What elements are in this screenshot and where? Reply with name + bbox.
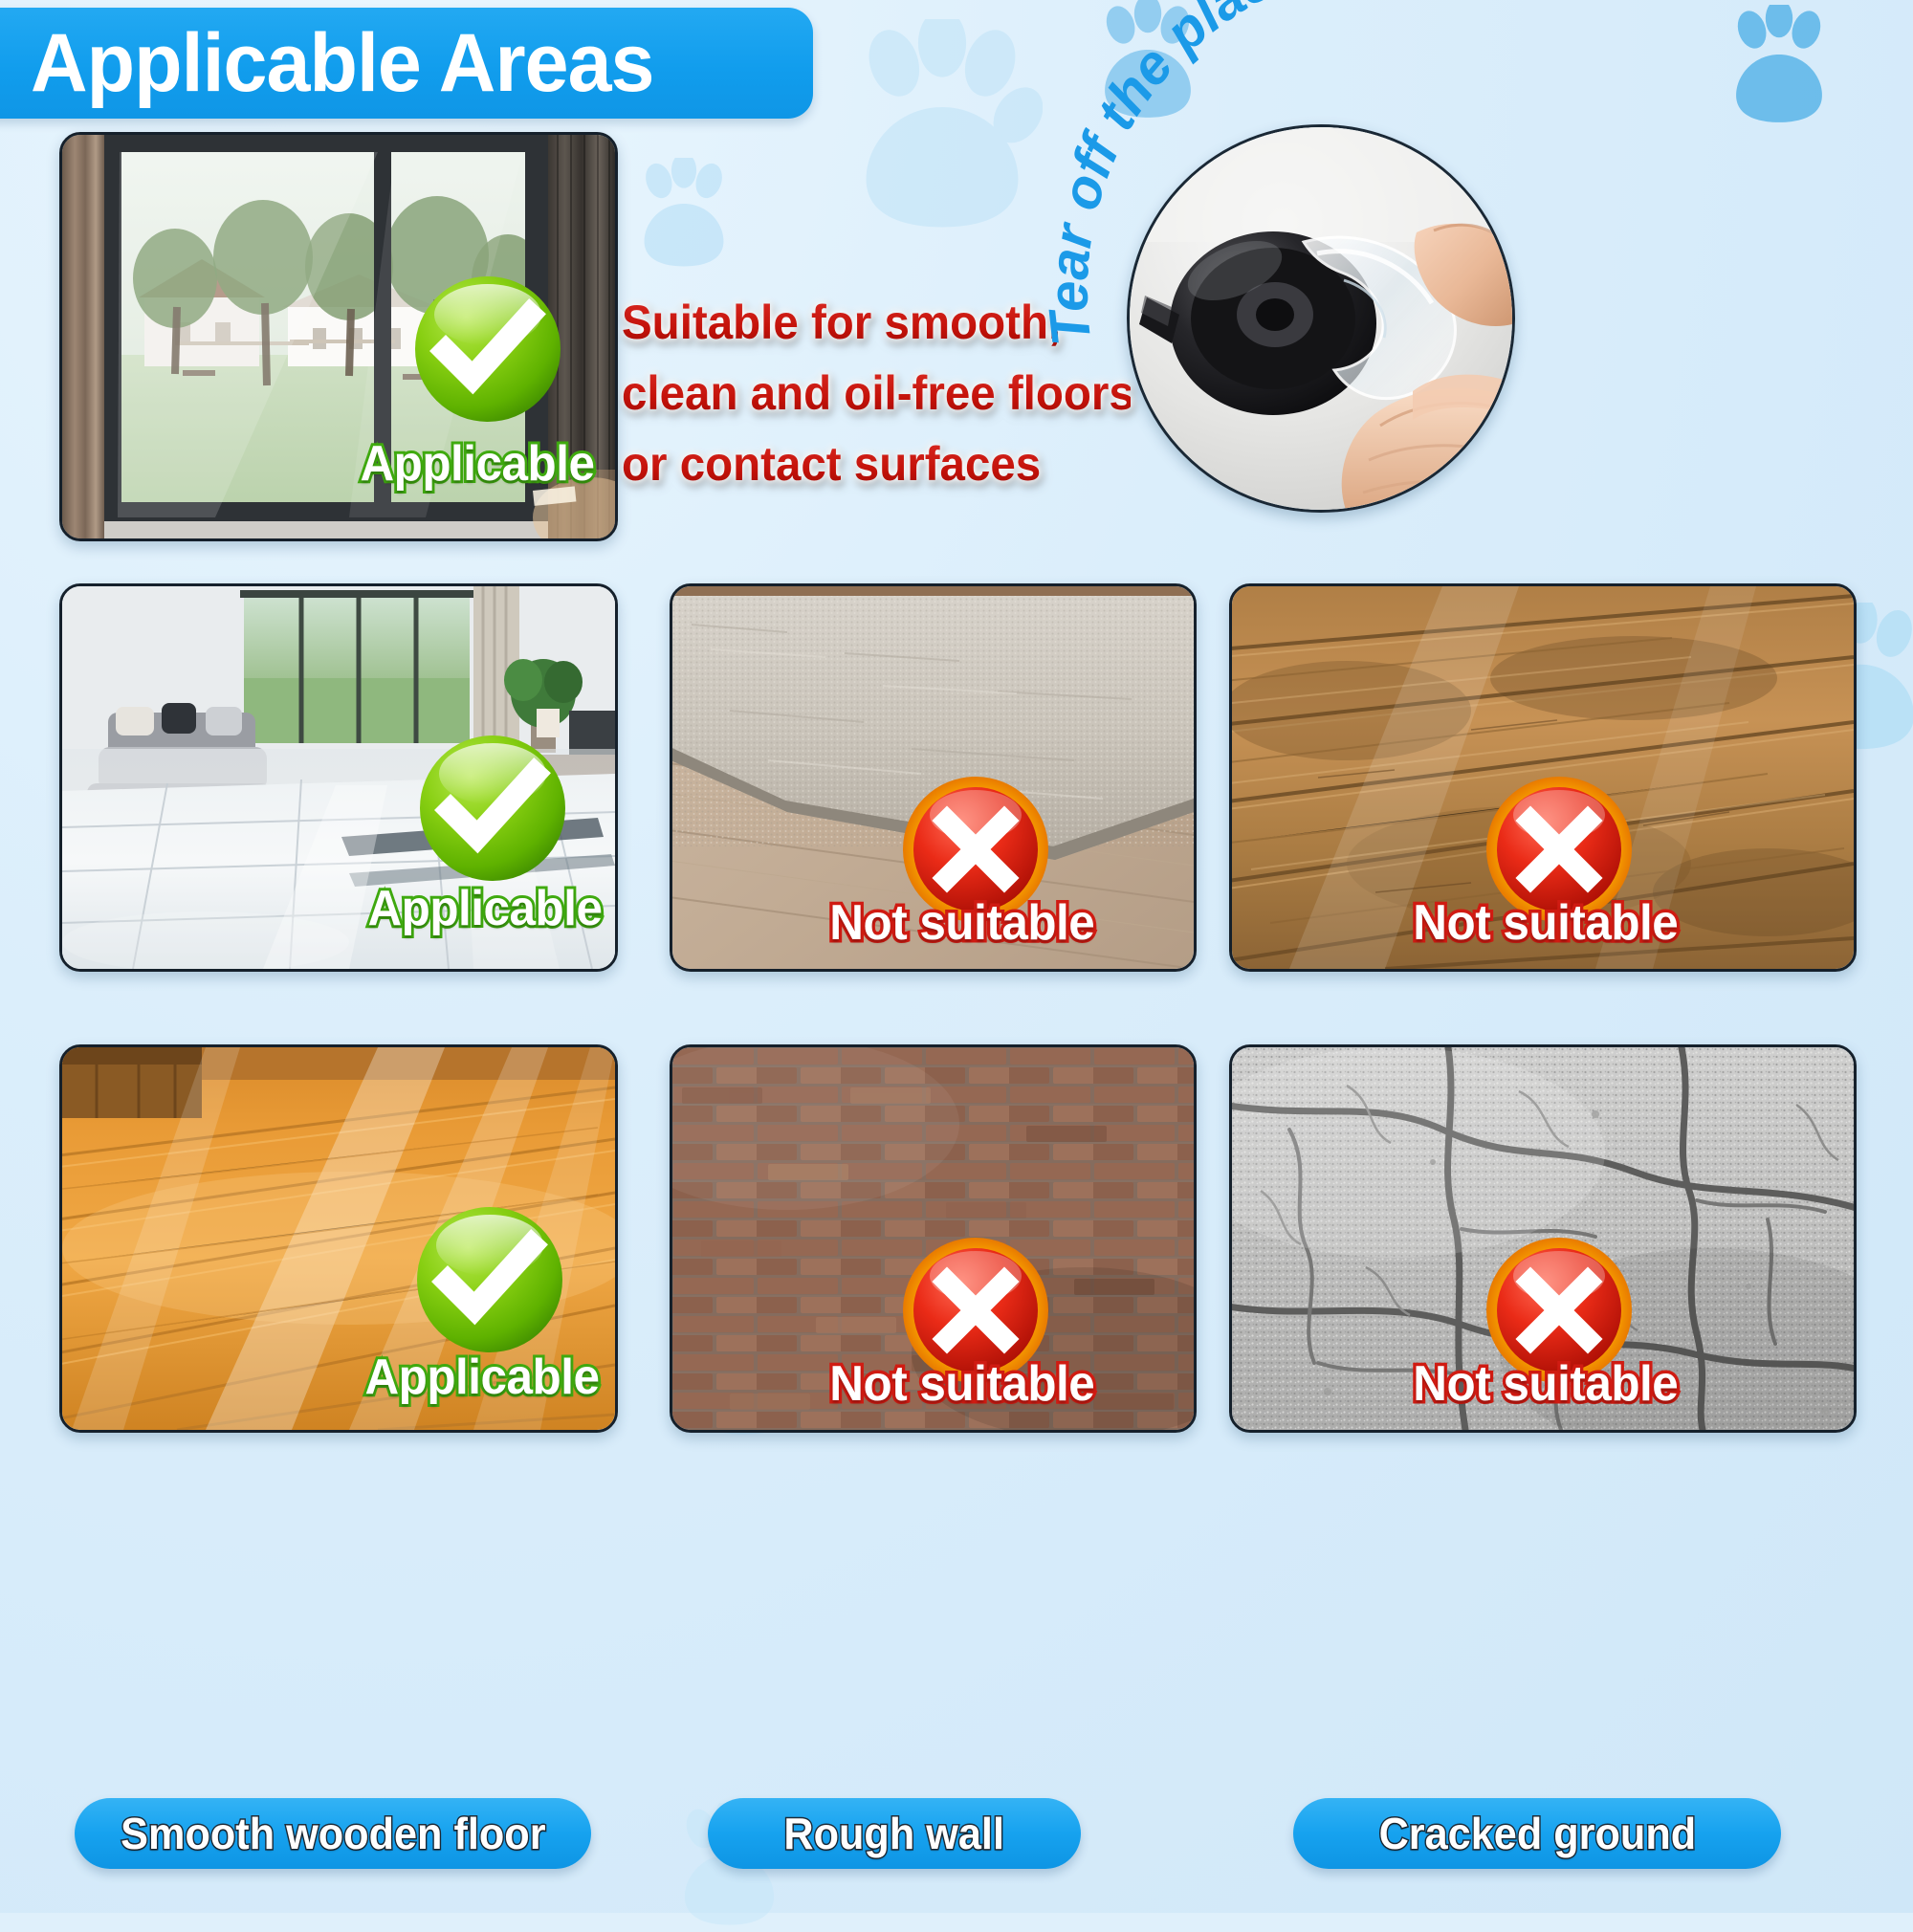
verdict-smooth-floor: Applicable <box>367 880 602 937</box>
headline-line-1: Suitable for smooth, <box>622 287 1131 358</box>
headline-line-2: clean and oil-free floors <box>622 358 1131 428</box>
pill-label: Smooth wooden floor <box>121 1808 545 1859</box>
pill-smooth-wooden-floor[interactable]: Smooth wooden floor <box>75 1798 591 1869</box>
headline-line-3: or contact surfaces <box>622 428 1131 499</box>
badge-check-clean-glass <box>411 273 564 426</box>
badge-check-smooth-floor <box>416 732 569 885</box>
verdict-smooth-wooden-floor: Applicable <box>364 1349 599 1406</box>
verdict-rough-wooden-floor: Not suitable <box>1413 894 1678 952</box>
pill-label: Rough wall <box>784 1808 1005 1859</box>
verdict-rough-wall: Not suitable <box>829 1355 1094 1413</box>
pill-label: Cracked ground <box>1378 1808 1696 1859</box>
page-title-banner: Applicable Areas <box>0 8 813 119</box>
page-title: Applicable Areas <box>31 22 653 104</box>
badge-check-smooth-wooden-floor <box>413 1203 566 1356</box>
verdict-carpet: Not suitable <box>829 894 1094 952</box>
verdict-clean-glass: Applicable <box>360 435 594 493</box>
tear-film-photo <box>1127 124 1515 513</box>
verdict-cracked-ground: Not suitable <box>1413 1355 1678 1413</box>
pill-rough-wall[interactable]: Rough wall <box>708 1798 1081 1869</box>
pill-cracked-ground[interactable]: Cracked ground <box>1293 1798 1781 1869</box>
headline-block: Suitable for smooth, clean and oil-free … <box>622 287 1157 499</box>
